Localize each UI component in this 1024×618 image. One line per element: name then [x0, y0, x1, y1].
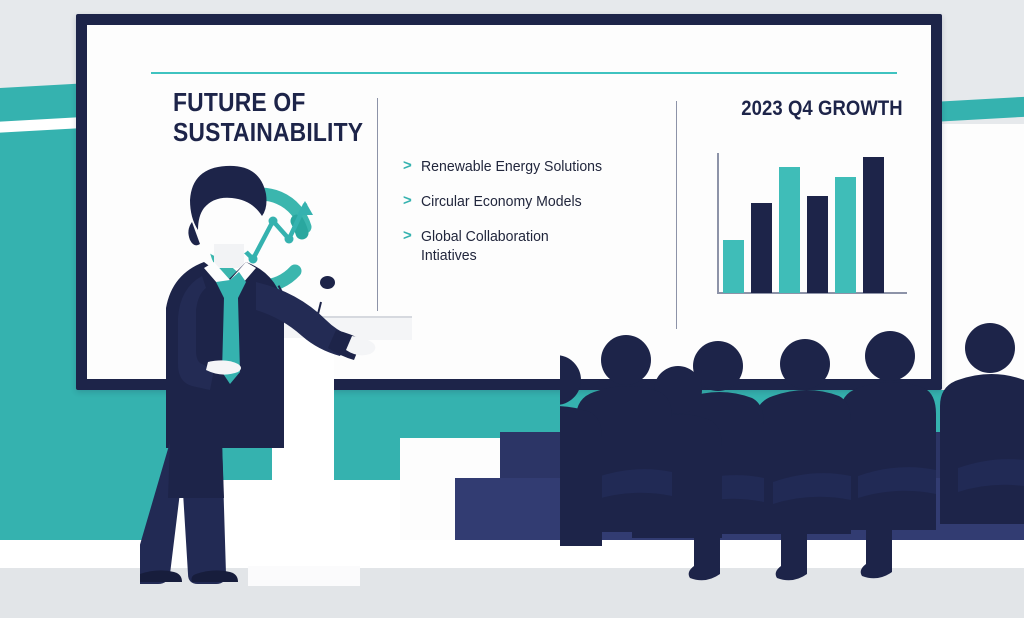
slide-title: FUTURE OF SUSTAINABILITY — [173, 87, 362, 147]
growth-bar-chart — [707, 139, 907, 299]
bullet-label: Renewable Energy Solutions — [421, 157, 602, 176]
chart-bar — [807, 196, 828, 293]
list-item: > Global Collaboration Intiatives — [403, 227, 653, 265]
chart-bar — [751, 203, 772, 293]
presentation-scene: FUTURE OF SUSTAINABILITY — [0, 0, 1024, 618]
chart-bar — [863, 157, 884, 293]
chart-bar — [723, 240, 744, 293]
list-item: > Circular Economy Models — [403, 192, 653, 211]
slide-bullet-list: > Renewable Energy Solutions > Circular … — [403, 157, 653, 281]
audience-person — [940, 323, 1024, 524]
audience-person — [755, 339, 851, 580]
slide-divider-right — [676, 101, 677, 329]
presenter-silhouette — [140, 150, 440, 590]
chart-bar — [835, 177, 856, 293]
chart-title: 2023 Q4 GROWTH — [721, 97, 923, 121]
slide-top-rule — [151, 72, 897, 74]
audience-person — [840, 331, 936, 578]
audience-person — [560, 355, 602, 582]
chart-y-axis — [717, 153, 719, 293]
list-item: > Renewable Energy Solutions — [403, 157, 653, 176]
seated-audience-silhouettes — [560, 318, 1024, 590]
chart-bar — [779, 167, 800, 293]
bullet-label: Circular Economy Models — [421, 192, 582, 211]
